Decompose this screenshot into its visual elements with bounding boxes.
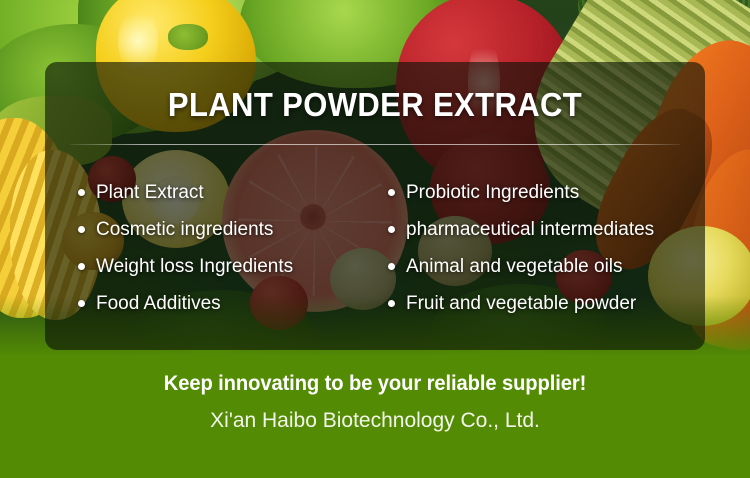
list-item: Animal and vegetable oils — [388, 248, 705, 285]
company-name: Xi'an Haibo Biotechnology Co., Ltd. — [0, 409, 750, 433]
list-item: Plant Extract — [78, 174, 375, 211]
list-item-label: Plant Extract — [96, 182, 204, 204]
pepper-stem-image — [168, 24, 208, 50]
list-item-label: Food Additives — [96, 293, 221, 315]
bullet-dot-icon — [388, 300, 395, 307]
list-item: pharmaceutical intermediates — [388, 211, 705, 248]
category-column-left: Plant Extract Cosmetic ingredients Weigh… — [45, 174, 375, 322]
title-divider — [70, 144, 680, 145]
content-panel: PLANT POWDER EXTRACT Plant Extract Cosme… — [45, 62, 705, 350]
list-item: Food Additives — [78, 285, 375, 322]
bullet-dot-icon — [78, 300, 85, 307]
list-item: Cosmetic ingredients — [78, 211, 375, 248]
bullet-dot-icon — [388, 263, 395, 270]
category-column-right: Probiotic Ingredients pharmaceutical int… — [375, 174, 705, 322]
bullet-dot-icon — [388, 189, 395, 196]
list-item-label: Weight loss Ingredients — [96, 256, 293, 278]
list-item-label: pharmaceutical intermediates — [406, 219, 654, 241]
list-item: Probiotic Ingredients — [388, 174, 705, 211]
list-item-label: Cosmetic ingredients — [96, 219, 273, 241]
bullet-dot-icon — [78, 189, 85, 196]
list-item-label: Fruit and vegetable powder — [406, 293, 636, 315]
list-item-label: Probiotic Ingredients — [406, 182, 579, 204]
list-item: Weight loss Ingredients — [78, 248, 375, 285]
footer-tagline: Keep innovating to be your reliable supp… — [15, 372, 735, 396]
page-title: PLANT POWDER EXTRACT — [65, 86, 685, 124]
list-item: Fruit and vegetable powder — [388, 285, 705, 322]
bullet-dot-icon — [388, 226, 395, 233]
bullet-dot-icon — [78, 263, 85, 270]
bullet-dot-icon — [78, 226, 85, 233]
product-category-columns: Plant Extract Cosmetic ingredients Weigh… — [45, 174, 705, 322]
list-item-label: Animal and vegetable oils — [406, 256, 623, 278]
product-banner: PLANT POWDER EXTRACT Plant Extract Cosme… — [0, 0, 750, 478]
